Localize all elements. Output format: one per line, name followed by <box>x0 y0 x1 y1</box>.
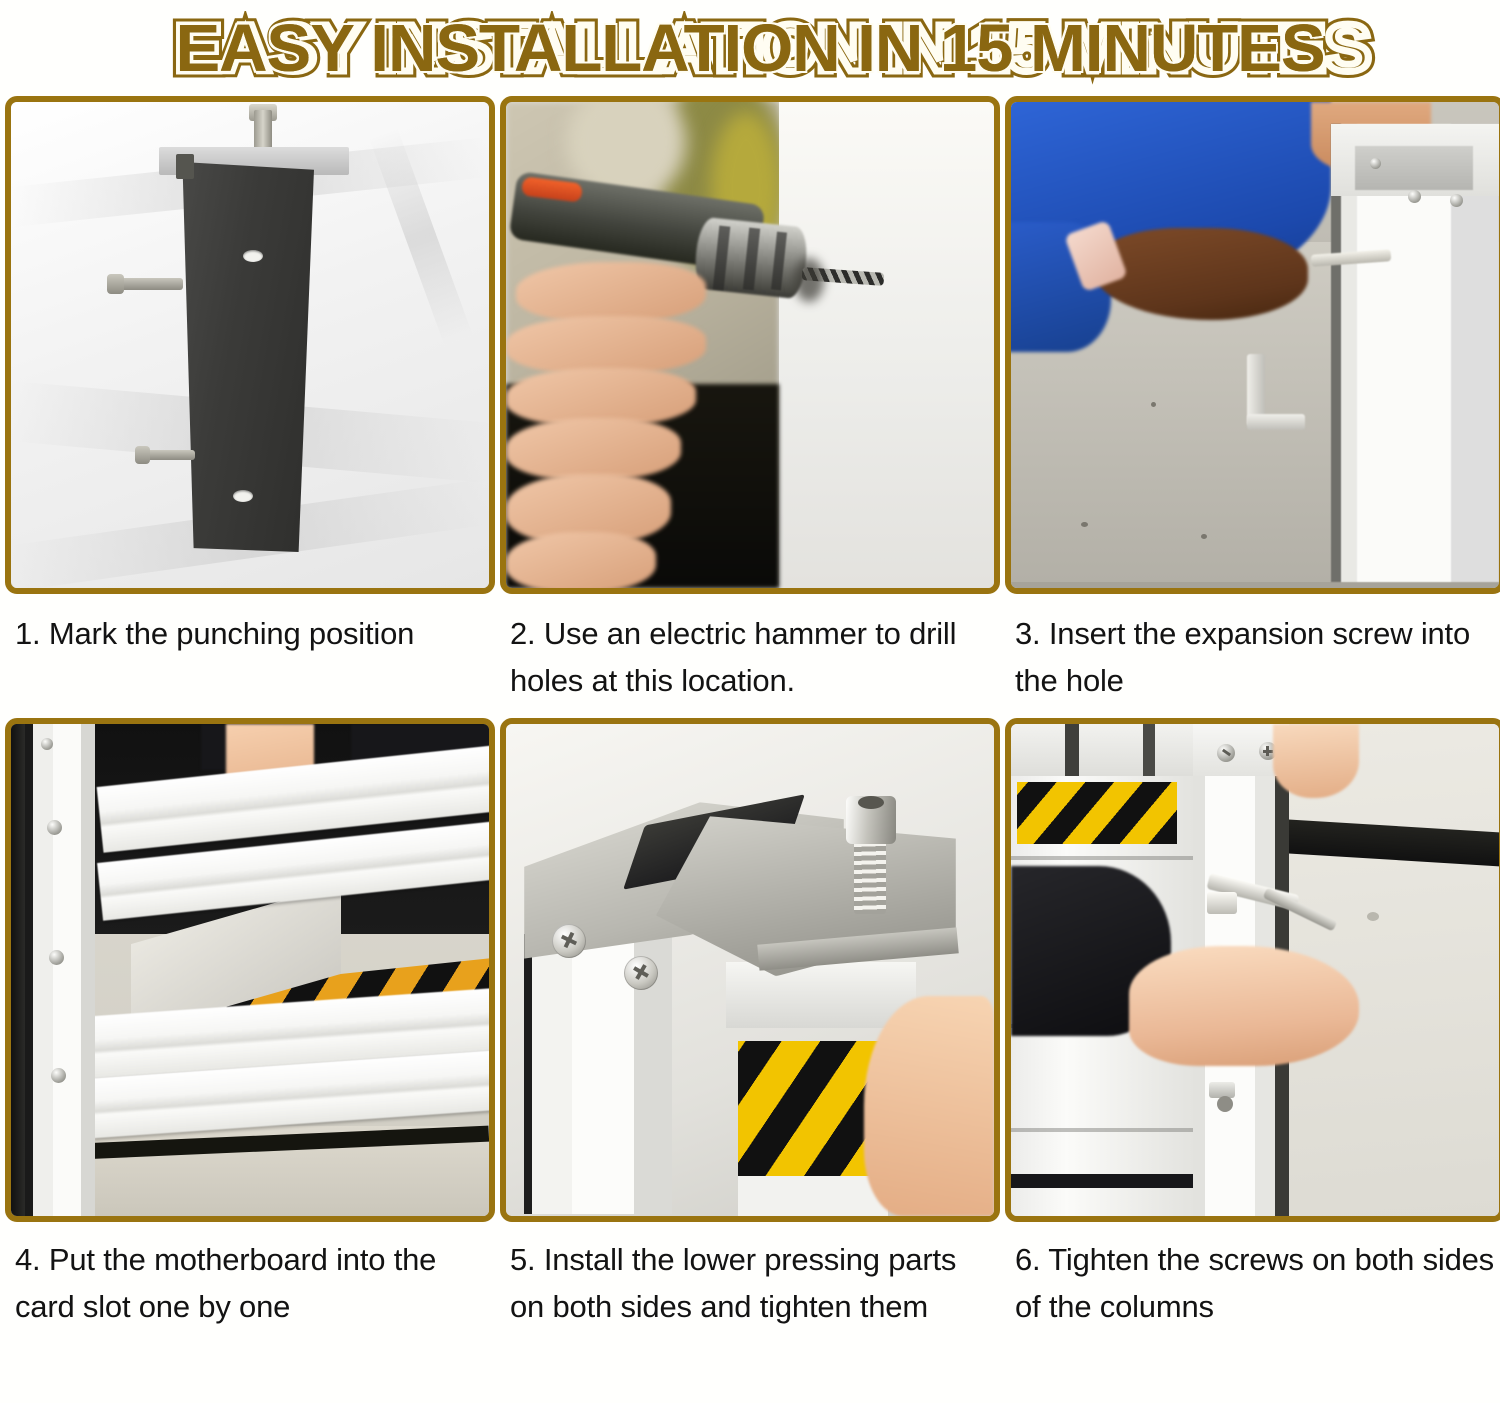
step-caption-1: 1. Mark the punching position <box>5 594 495 657</box>
steps-row-bottom: 4. Put the motherboard into the card slo… <box>0 718 1500 1330</box>
step-card-1: 1. Mark the punching position <box>5 96 495 704</box>
step-caption-3: 3. Insert the expansion screw into the h… <box>1005 594 1500 704</box>
page-title: EASY INSTALLATION IN 15 MINUTES EASY INS… <box>175 15 1324 82</box>
step-caption-6: 6. Tighten the screws on both sides of t… <box>1005 1222 1500 1330</box>
row-divider <box>0 704 1500 718</box>
step-photo-6 <box>1005 718 1500 1222</box>
step-caption-5: 5. Install the lower pressing parts on b… <box>500 1222 1000 1330</box>
step-photo-1 <box>5 96 495 594</box>
step-card-3: 3. Insert the expansion screw into the h… <box>1005 96 1500 704</box>
step-card-2: 2. Use an electric hammer to drill holes… <box>500 96 1000 704</box>
steps-row-top: 1. Mark the punching position <box>0 96 1500 704</box>
step-photo-4 <box>5 718 495 1222</box>
step-caption-2: 2. Use an electric hammer to drill holes… <box>500 594 1000 704</box>
title-fill: EASY INSTALLATION IN 15 MINUTES <box>175 11 1324 86</box>
step-photo-2 <box>500 96 1000 594</box>
step-card-4: 4. Put the motherboard into the card slo… <box>5 718 495 1330</box>
header-banner: EASY INSTALLATION IN 15 MINUTES EASY INS… <box>0 0 1500 96</box>
step-card-6: 6. Tighten the screws on both sides of t… <box>1005 718 1500 1330</box>
step-card-5: 5. Install the lower pressing parts on b… <box>500 718 1000 1330</box>
step-photo-3 <box>1005 96 1500 594</box>
step-caption-4: 4. Put the motherboard into the card slo… <box>5 1222 495 1330</box>
step-photo-5 <box>500 718 1000 1222</box>
